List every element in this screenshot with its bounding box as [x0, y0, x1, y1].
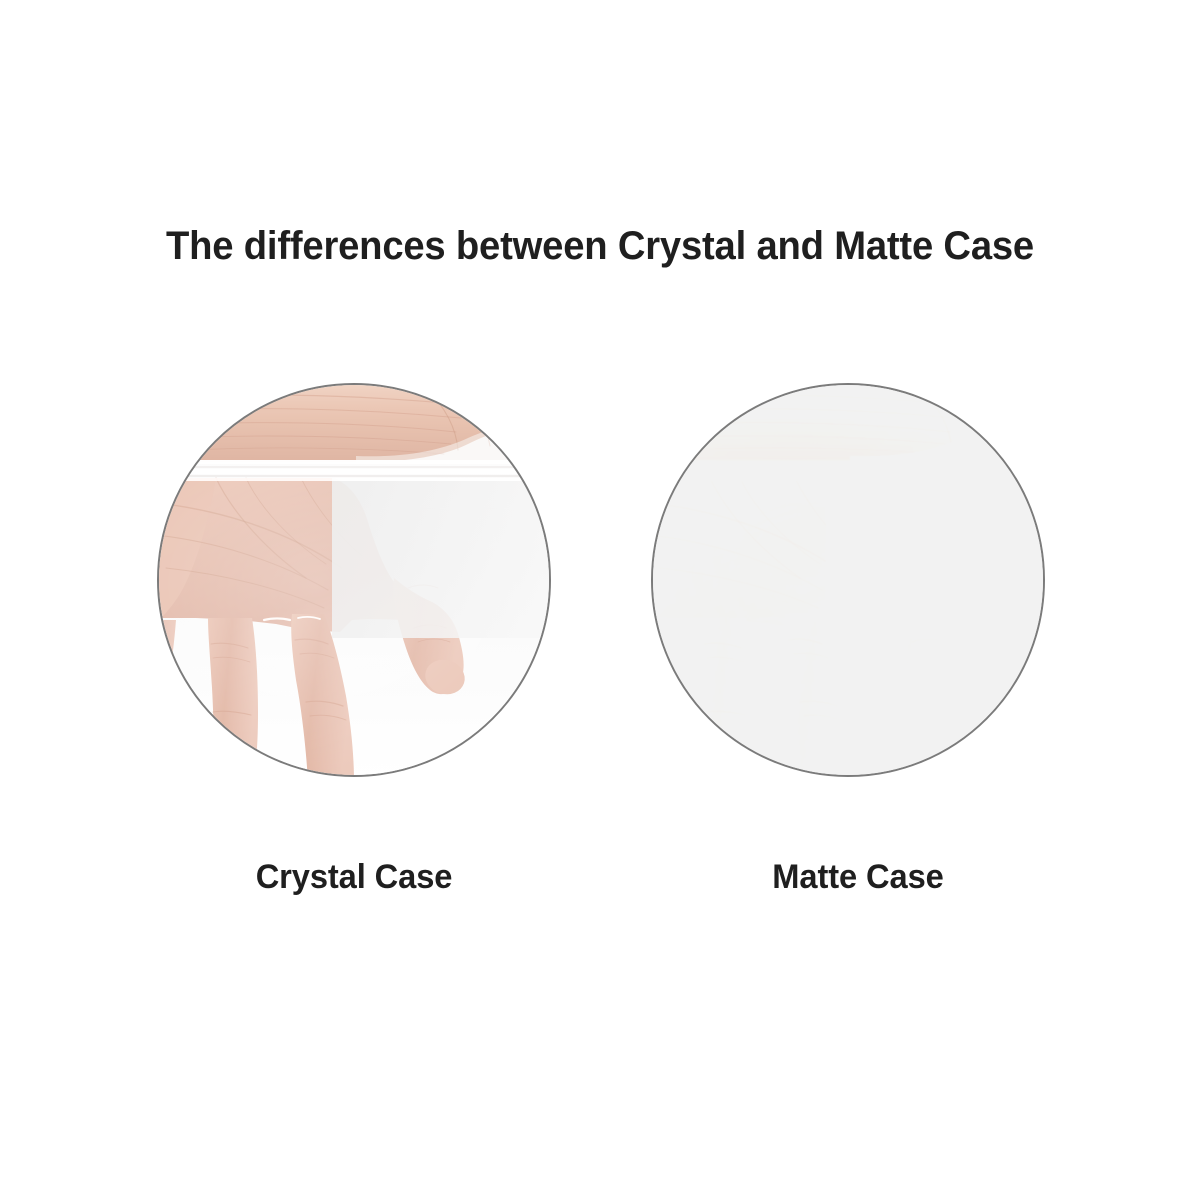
circle-frame-crystal [157, 383, 551, 777]
hand-illustration [157, 383, 551, 777]
caption-crystal-case: Crystal Case [162, 855, 546, 899]
circle-frame-matte [651, 383, 1045, 777]
sample-crystal[interactable] [157, 383, 551, 777]
page-title: The differences between Crystal and Matt… [27, 222, 1173, 270]
photo-crystal-case [157, 383, 551, 777]
hand-illustration [651, 383, 1045, 777]
sample-matte[interactable] [651, 383, 1045, 777]
caption-matte-case: Matte Case [666, 855, 1050, 899]
photo-matte-case [651, 383, 1045, 777]
comparison-row [0, 383, 1200, 779]
comparison-graphic: The differences between Crystal and Matt… [0, 0, 1200, 1200]
